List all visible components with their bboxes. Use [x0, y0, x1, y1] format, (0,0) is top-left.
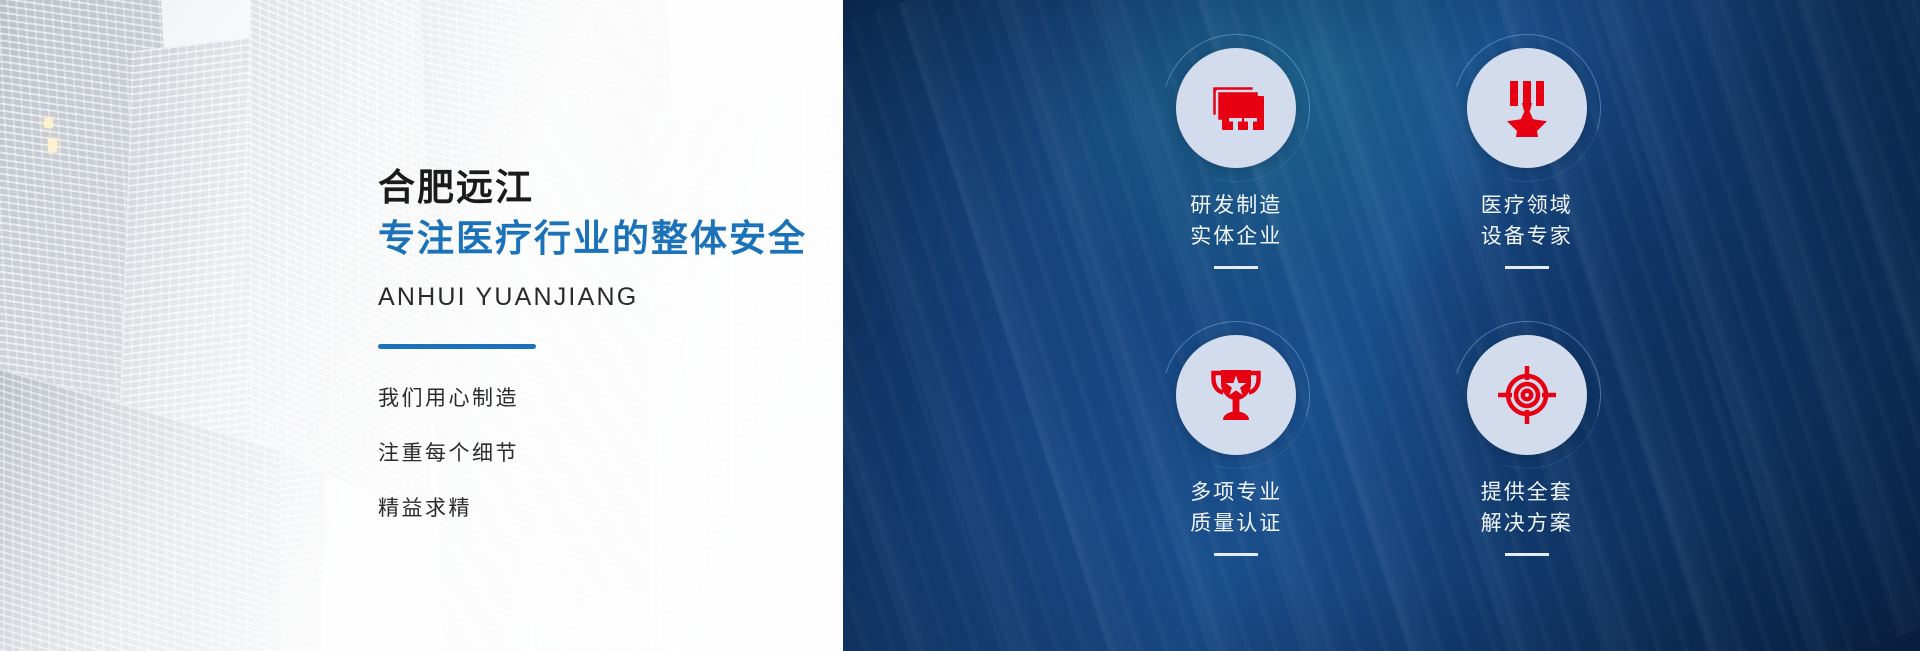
headline-block: 合肥远江 专注医疗行业的整体安全 ANHUI YUANJIANG 我们用心制造 … [378, 166, 807, 522]
feature-label-1: 研发制造 实体企业 [1190, 190, 1282, 252]
feature-grid: 研发制造 实体企业 [843, 0, 1920, 651]
icon-wrapper [1176, 335, 1296, 455]
feature-item-4[interactable]: 提供全套 解决方案 [1382, 335, 1673, 622]
feature-underline [1505, 266, 1549, 269]
slogan-line: 精益求精 [378, 492, 807, 522]
slogan-line: 注重每个细节 [378, 437, 807, 467]
left-image-panel: 合肥远江 专注医疗行业的整体安全 ANHUI YUANJIANG 我们用心制造 … [0, 0, 843, 651]
window-glint [44, 118, 53, 128]
feature-label-2: 医疗领域 设备专家 [1481, 190, 1573, 252]
feature-underline [1505, 553, 1549, 556]
icon-wrapper [1176, 48, 1296, 168]
feature-label-line2: 质量认证 [1190, 508, 1282, 539]
feature-label-line1: 提供全套 [1481, 477, 1573, 508]
right-feature-panel: 研发制造 实体企业 [843, 0, 1920, 651]
feature-label-line1: 研发制造 [1190, 190, 1282, 221]
feature-item-2[interactable]: 医疗领域 设备专家 [1382, 48, 1673, 335]
icon-decor-ring [1136, 8, 1336, 208]
company-name-pinyin: ANHUI YUANJIANG [378, 283, 807, 312]
feature-label-line2: 实体企业 [1190, 221, 1282, 252]
accent-divider [378, 344, 536, 349]
company-name: 合肥远江 [378, 166, 807, 210]
icon-wrapper [1467, 48, 1587, 168]
feature-label-line1: 多项专业 [1190, 477, 1282, 508]
feature-label-line2: 解决方案 [1481, 508, 1573, 539]
feature-label-line1: 医疗领域 [1481, 190, 1573, 221]
feature-item-3[interactable]: 多项专业 质量认证 [1091, 335, 1382, 622]
slogan-line: 我们用心制造 [378, 382, 807, 412]
feature-label-4: 提供全套 解决方案 [1481, 477, 1573, 539]
icon-decor-ring [1427, 8, 1627, 208]
feature-underline [1214, 553, 1258, 556]
feature-underline [1214, 266, 1258, 269]
feature-label-3: 多项专业 质量认证 [1190, 477, 1282, 539]
hero-banner: 合肥远江 专注医疗行业的整体安全 ANHUI YUANJIANG 我们用心制造 … [0, 0, 1920, 651]
window-glint [48, 138, 57, 152]
slogan-list: 我们用心制造 注重每个细节 精益求精 [378, 382, 807, 522]
feature-item-1[interactable]: 研发制造 实体企业 [1091, 48, 1382, 335]
company-tagline: 专注医疗行业的整体安全 [378, 216, 807, 261]
icon-wrapper [1467, 335, 1587, 455]
feature-label-line2: 设备专家 [1481, 221, 1573, 252]
